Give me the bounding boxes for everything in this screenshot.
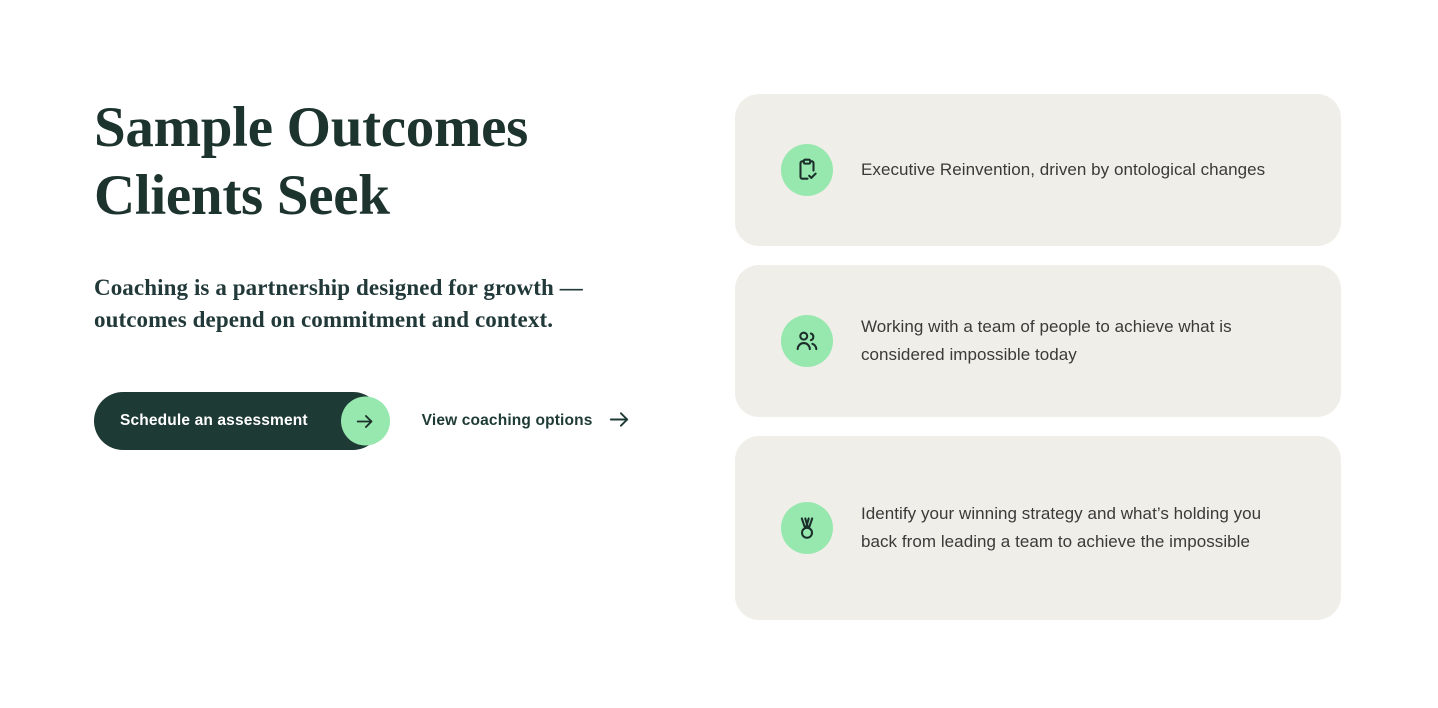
outcome-card-text: Executive Reinvention, driven by ontolog…: [861, 156, 1265, 184]
outcomes-card-list: Executive Reinvention, driven by ontolog…: [735, 94, 1341, 620]
schedule-assessment-label: Schedule an assessment: [120, 412, 308, 430]
outcome-card-text: Identify your winning strategy and what’…: [861, 500, 1281, 556]
arrow-right-icon: [341, 397, 390, 446]
outcome-card[interactable]: Working with a team of people to achieve…: [735, 265, 1341, 417]
cta-row: Schedule an assessment View coaching opt…: [94, 392, 674, 450]
users-icon: [781, 315, 833, 367]
outcome-card[interactable]: Identify your winning strategy and what’…: [735, 436, 1341, 620]
outcome-card[interactable]: Executive Reinvention, driven by ontolog…: [735, 94, 1341, 246]
outcome-card-text: Working with a team of people to achieve…: [861, 313, 1281, 369]
page-title: Sample Outcomes Clients Seek: [94, 94, 614, 230]
schedule-assessment-button[interactable]: Schedule an assessment: [94, 392, 382, 450]
page-root: Sample Outcomes Clients Seek Coaching is…: [0, 0, 1438, 708]
clipboard-check-icon: [781, 144, 833, 196]
hero-text-column: Sample Outcomes Clients Seek Coaching is…: [94, 94, 674, 450]
view-coaching-options-label: View coaching options: [422, 412, 593, 430]
hero-subheadline: Coaching is a partnership designed for g…: [94, 272, 639, 336]
view-coaching-options-link[interactable]: View coaching options: [418, 400, 636, 442]
arrow-right-icon: [608, 408, 631, 434]
medal-icon: [781, 502, 833, 554]
